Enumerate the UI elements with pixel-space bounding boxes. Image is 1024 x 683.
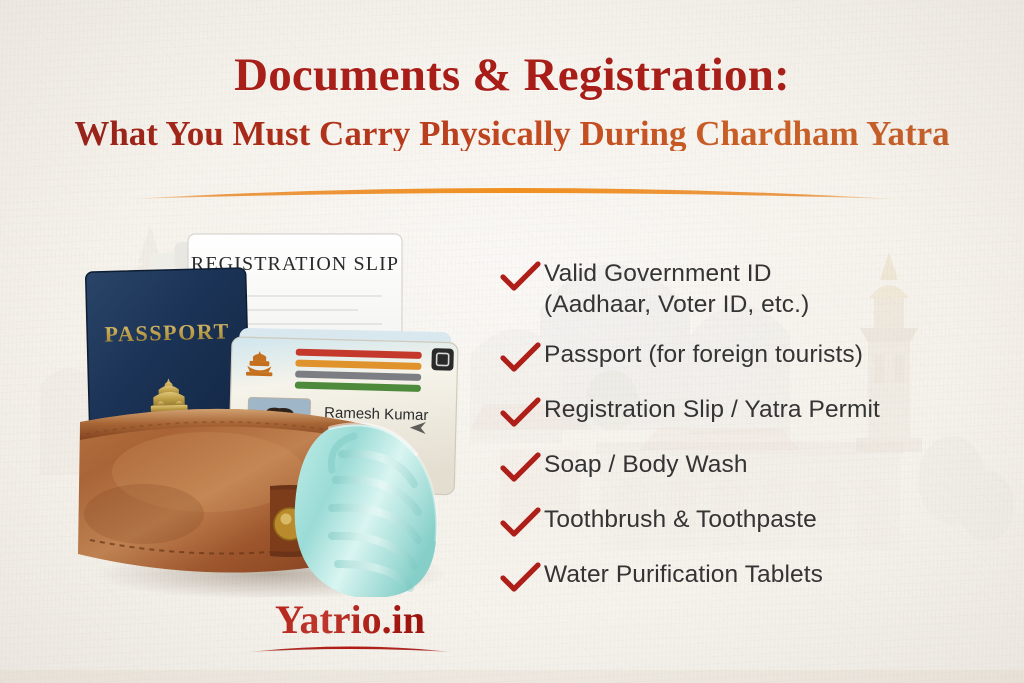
list-item-label: Passport (for foreign tourists) xyxy=(544,339,863,370)
check-icon xyxy=(498,506,544,540)
divider-swoosh xyxy=(0,176,1024,206)
requirements-checklist: Valid Government ID (Aadhaar, Voter ID, … xyxy=(498,258,998,614)
brand-logo-text: Yatrio.in xyxy=(240,600,460,640)
list-item-label: Valid Government ID xyxy=(544,258,809,289)
page-subtitle: What You Must Carry Physically During Ch… xyxy=(0,99,1024,151)
brand-logo[interactable]: Yatrio.in xyxy=(240,600,460,668)
check-icon xyxy=(498,561,544,595)
check-icon xyxy=(498,341,544,375)
page-title: Documents & Registration: xyxy=(0,0,1024,99)
list-item: Registration Slip / Yatra Permit xyxy=(498,394,998,430)
id-card-hologram xyxy=(431,348,454,371)
passport-text: PASSPORT xyxy=(104,318,230,346)
list-item-label: Toothbrush & Toothpaste xyxy=(544,504,817,535)
poster-header: Documents & Registration: What You Must … xyxy=(0,0,1024,151)
wallet-documents-illustration: REGISTRATION SLIP PASSPORT xyxy=(58,222,478,597)
list-item-label: Soap / Body Wash xyxy=(544,449,748,480)
list-item: Toothbrush & Toothpaste xyxy=(498,504,998,540)
check-icon xyxy=(498,451,544,485)
list-item-label: Water Purification Tablets xyxy=(544,559,823,590)
list-item-sublabel: (Aadhaar, Voter ID, etc.) xyxy=(544,289,809,320)
list-item: Water Purification Tablets xyxy=(498,559,998,595)
list-item: Valid Government ID (Aadhaar, Voter ID, … xyxy=(498,258,998,321)
check-icon xyxy=(498,396,544,430)
logo-swoosh xyxy=(240,641,460,655)
list-item: Passport (for foreign tourists) xyxy=(498,339,998,375)
list-item-label: Registration Slip / Yatra Permit xyxy=(544,394,880,425)
surgical-mask xyxy=(295,424,437,597)
infographic-poster: Documents & Registration: What You Must … xyxy=(0,0,1024,683)
list-item: Soap / Body Wash xyxy=(498,449,998,485)
check-icon xyxy=(498,260,544,294)
